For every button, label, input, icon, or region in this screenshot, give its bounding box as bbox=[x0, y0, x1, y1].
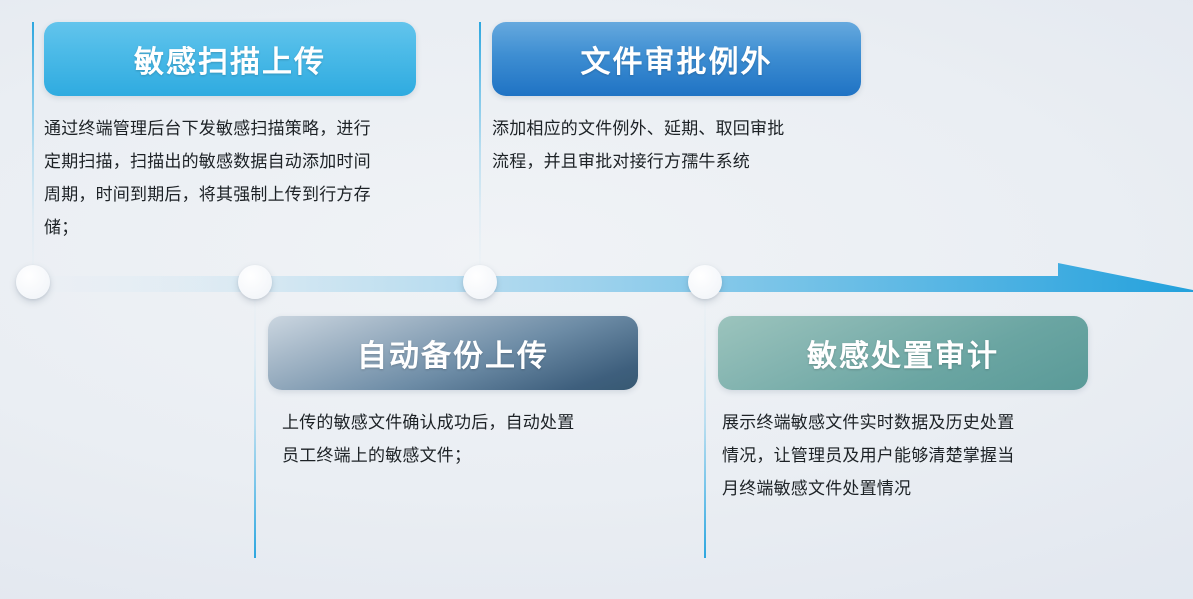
connector-line-card-1 bbox=[32, 22, 34, 270]
card-banner-2[interactable]: 文件审批例外 bbox=[492, 22, 861, 96]
connector-line-card-2 bbox=[479, 22, 481, 270]
infographic-canvas: 敏感扫描上传 通过终端管理后台下发敏感扫描策略，进行 定期扫描，扫描出的敏感数据… bbox=[0, 0, 1193, 599]
card-title-1: 敏感扫描上传 bbox=[134, 37, 326, 81]
timeline-node-4[interactable] bbox=[688, 265, 722, 299]
card-file-approval-exception[interactable]: 文件审批例外 添加相应的文件例外、延期、取回审批 流程，并且审批对接行方孺牛系统 bbox=[492, 22, 861, 178]
card-sensitive-handling-audit[interactable]: 敏感处置审计 展示终端敏感文件实时数据及历史处置 情况，让管理员及用户能够清楚掌… bbox=[718, 316, 1088, 505]
card-auto-backup-upload[interactable]: 自动备份上传 上传的敏感文件确认成功后，自动处置 员工终端上的敏感文件； bbox=[268, 316, 638, 472]
card-description-1: 通过终端管理后台下发敏感扫描策略，进行 定期扫描，扫描出的敏感数据自动添加时间 … bbox=[44, 112, 434, 244]
connector-line-card-4 bbox=[704, 300, 706, 558]
card-description-4: 展示终端敏感文件实时数据及历史处置 情况，让管理员及用户能够清楚掌握当 月终端敏… bbox=[722, 406, 1122, 505]
timeline-node-3[interactable] bbox=[463, 265, 497, 299]
card-sensitive-scan-upload[interactable]: 敏感扫描上传 通过终端管理后台下发敏感扫描策略，进行 定期扫描，扫描出的敏感数据… bbox=[44, 22, 416, 244]
card-banner-4[interactable]: 敏感处置审计 bbox=[718, 316, 1088, 390]
card-banner-3[interactable]: 自动备份上传 bbox=[268, 316, 638, 390]
timeline-node-2[interactable] bbox=[238, 265, 272, 299]
card-description-2: 添加相应的文件例外、延期、取回审批 流程，并且审批对接行方孺牛系统 bbox=[492, 112, 892, 178]
connector-line-card-3 bbox=[254, 300, 256, 558]
card-title-3: 自动备份上传 bbox=[357, 331, 549, 375]
card-banner-1[interactable]: 敏感扫描上传 bbox=[44, 22, 416, 96]
card-title-4: 敏感处置审计 bbox=[807, 331, 999, 375]
card-title-2: 文件审批例外 bbox=[581, 37, 773, 81]
card-description-3: 上传的敏感文件确认成功后，自动处置 员工终端上的敏感文件； bbox=[282, 406, 682, 472]
timeline-node-1[interactable] bbox=[16, 265, 50, 299]
